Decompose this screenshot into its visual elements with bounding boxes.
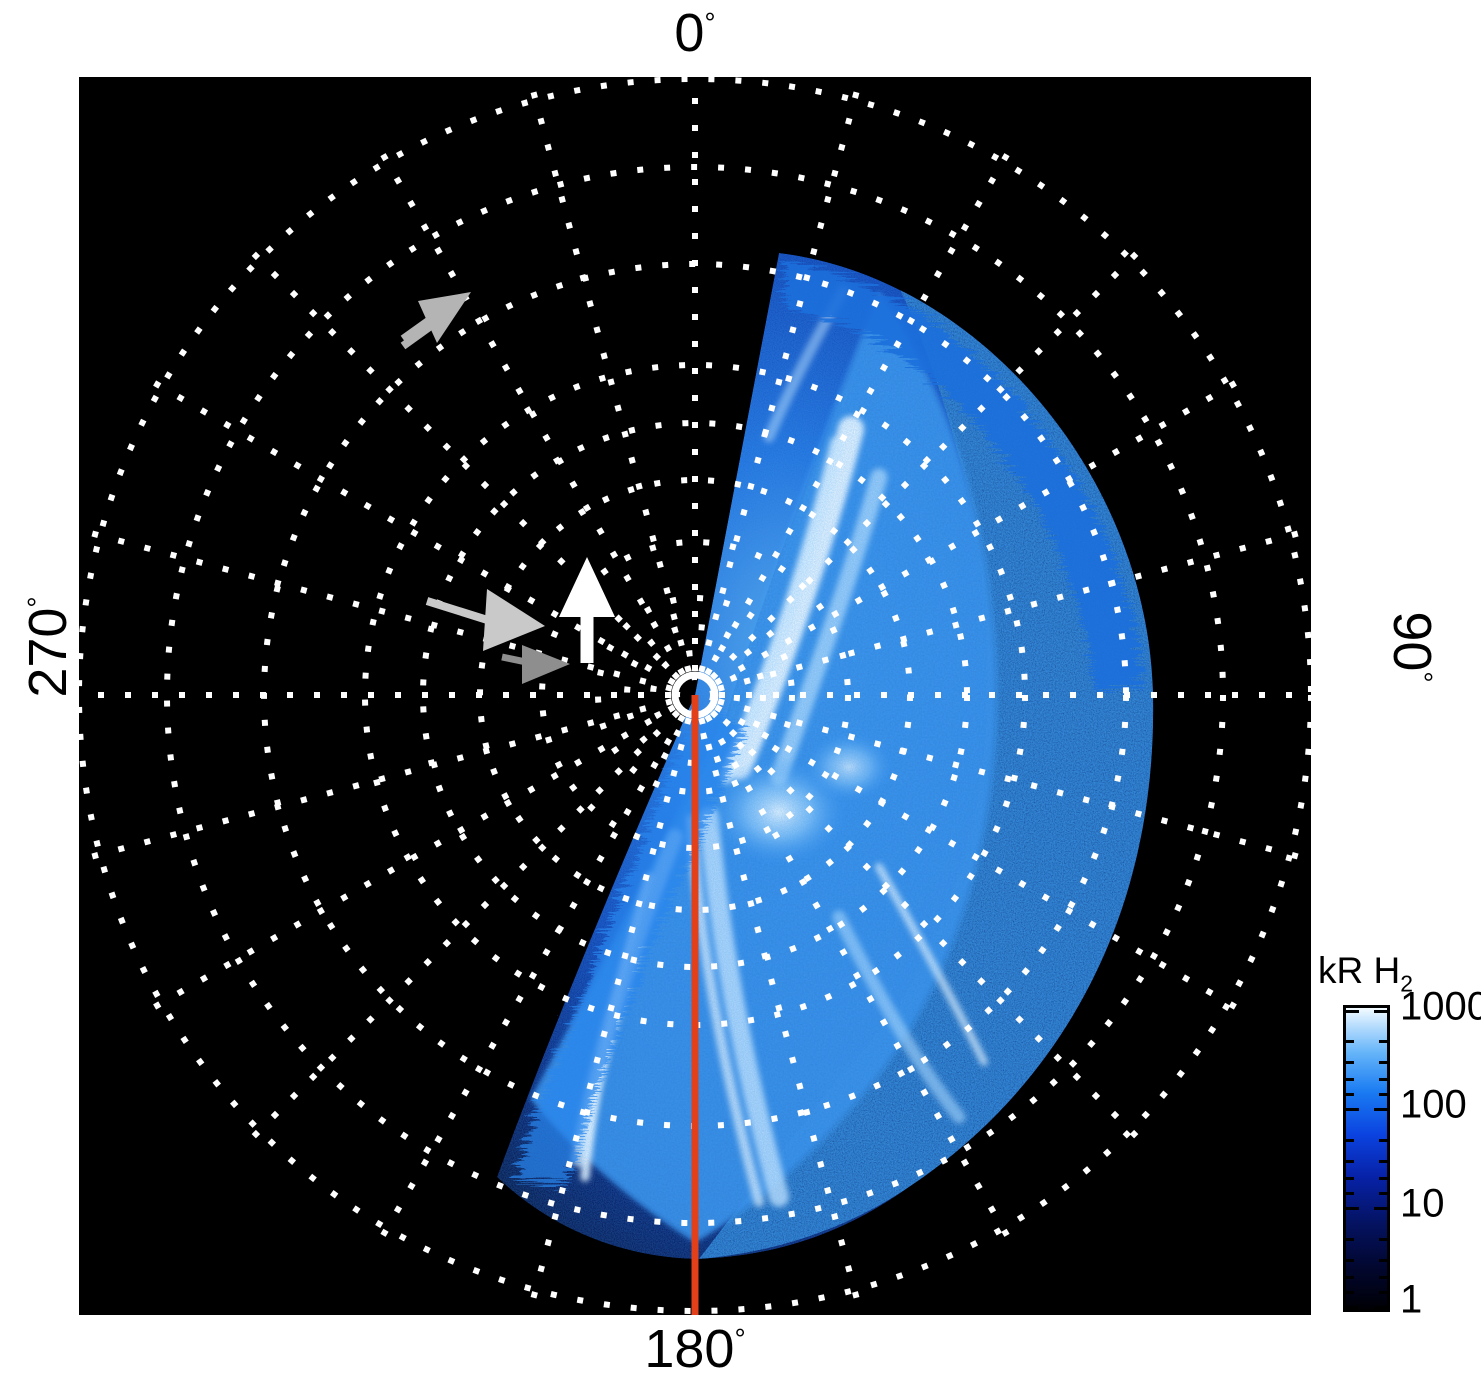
figure-root: 0° 180° 270° 90° <box>0 0 1481 1386</box>
cbar-minor-l-r <box>1379 1291 1387 1294</box>
cbar-tick-100 <box>1346 1108 1359 1111</box>
colorbar-frame <box>1343 1005 1390 1312</box>
colorbar-label-1: 1 <box>1400 1278 1422 1323</box>
axis-label-right: 90° <box>1385 537 1439 757</box>
colorbar-title: kR H2 <box>1318 950 1413 992</box>
colorbar-title-main: kR H <box>1318 950 1400 991</box>
cbar-tick-1000-r <box>1374 1010 1387 1013</box>
cbar-tick-1000 <box>1346 1010 1359 1013</box>
cbar-minor-e-r <box>1379 1139 1387 1142</box>
cbar-minor-j-r <box>1379 1259 1387 1262</box>
colorbar-gradient <box>1346 1008 1387 1309</box>
cbar-minor-a-r <box>1379 1040 1387 1043</box>
degree-symbol-right: ° <box>1407 671 1438 682</box>
degree-symbol-left: ° <box>22 596 53 607</box>
axis-label-top: 0° <box>79 6 1311 60</box>
axis-label-left: 270° <box>21 537 75 757</box>
colorbar: kR H2 <box>1318 950 1481 1330</box>
cbar-minor-d <box>1346 1093 1354 1096</box>
cbar-minor-b <box>1346 1061 1354 1064</box>
cbar-minor-g-r <box>1379 1177 1387 1180</box>
cbar-minor-i-r <box>1379 1238 1387 1241</box>
cbar-minor-k-r <box>1379 1276 1387 1279</box>
degree-symbol-bottom: ° <box>734 1323 745 1354</box>
cbar-minor-l <box>1346 1291 1354 1294</box>
cbar-minor-c-r <box>1379 1078 1387 1081</box>
cbar-minor-f <box>1346 1160 1354 1163</box>
cbar-minor-d-r <box>1379 1093 1387 1096</box>
cbar-tick-100-r <box>1374 1108 1387 1111</box>
cbar-minor-h <box>1346 1192 1354 1195</box>
cbar-minor-i <box>1346 1238 1354 1241</box>
cbar-minor-h-r <box>1379 1192 1387 1195</box>
cbar-minor-k <box>1346 1276 1354 1279</box>
cbar-minor-b-r <box>1379 1061 1387 1064</box>
axis-label-bottom: 180° <box>79 1322 1311 1376</box>
cbar-tick-10 <box>1346 1207 1359 1210</box>
colorbar-label-10: 10 <box>1400 1182 1445 1227</box>
cbar-minor-a <box>1346 1040 1354 1043</box>
cbar-minor-g <box>1346 1177 1354 1180</box>
cbar-minor-j <box>1346 1259 1354 1262</box>
cbar-tick-1 <box>1346 1306 1359 1309</box>
cbar-tick-10-r <box>1374 1207 1387 1210</box>
colorbar-label-1000: 1000 <box>1400 985 1481 1030</box>
cbar-tick-1-r <box>1374 1306 1387 1309</box>
cbar-minor-f-r <box>1379 1160 1387 1163</box>
colorbar-label-100: 100 <box>1400 1083 1467 1128</box>
axis-label-bottom-text: 180 <box>644 1319 734 1379</box>
cbar-minor-c <box>1346 1078 1354 1081</box>
polar-plot-svg <box>79 77 1311 1315</box>
axis-label-top-text: 0 <box>674 3 704 63</box>
axis-label-right-text: 90 <box>1382 611 1442 671</box>
polar-plot-area <box>79 77 1311 1315</box>
axis-label-left-text: 270 <box>18 608 78 698</box>
cbar-minor-e <box>1346 1139 1354 1142</box>
degree-symbol-top: ° <box>704 7 715 38</box>
